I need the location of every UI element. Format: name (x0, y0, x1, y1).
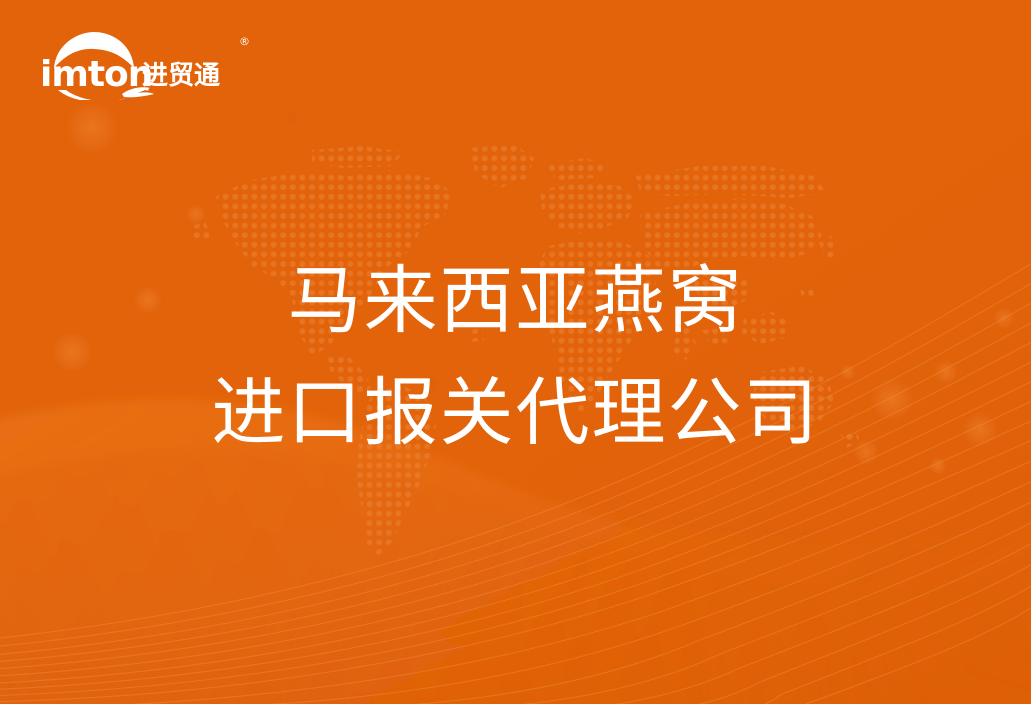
trademark-symbol: ® (239, 36, 250, 47)
headline-line-2: 进口报关代理公司 (0, 364, 1031, 462)
headline-line-1: 马来西亚燕窝 (0, 252, 1031, 350)
headline-block: 马来西亚燕窝 进口报关代理公司 (0, 252, 1031, 462)
logo-chinese-name: 进贸通 (142, 61, 220, 91)
svg-text:进贸通: 进贸通 (142, 61, 220, 91)
brand-logo[interactable]: imton 进贸通 ® (38, 28, 248, 100)
promo-banner: imton 进贸通 ® 马来西亚燕窝 进口报关代理公司 (0, 0, 1031, 704)
